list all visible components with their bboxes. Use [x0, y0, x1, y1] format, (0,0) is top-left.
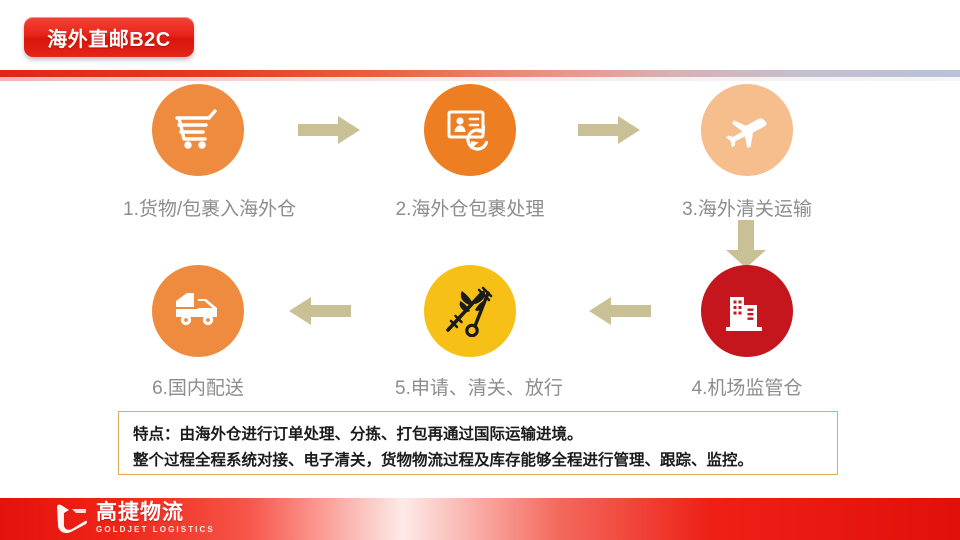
brand-name-en: GOLDJET LOGISTICS	[96, 526, 215, 534]
arrow-4-to-5	[589, 297, 651, 325]
customs-emblem-icon	[442, 285, 498, 337]
arrow-1-to-2	[298, 116, 360, 144]
header-divider-shadow	[0, 77, 960, 81]
arrow-2-to-3	[578, 116, 640, 144]
flow-stage-2[interactable]: 2.海外仓包裹处理	[395, 84, 545, 221]
header-divider	[0, 70, 960, 77]
brand-logo: 高捷物流 GOLDJET LOGISTICS	[55, 502, 215, 534]
flow-stage-6[interactable]: 6.国内配送	[123, 265, 273, 400]
brand-logo-text: 高捷物流 GOLDJET LOGISTICS	[96, 502, 215, 534]
stage-6-label: 6.国内配送	[123, 373, 273, 400]
stage-6-circle	[152, 265, 244, 357]
delivery-truck-icon	[173, 291, 223, 331]
stage-3-circle	[701, 84, 793, 176]
page-title: 海外直邮B2C	[47, 23, 171, 52]
airplane-icon	[723, 108, 771, 152]
arrow-3-to-4	[726, 220, 766, 268]
stage-4-label: 4.机场监管仓	[672, 373, 822, 400]
flow-stage-1[interactable]: 1.货物/包裹入海外仓	[123, 84, 273, 221]
arrow-5-to-6	[289, 297, 351, 325]
flow-stage-3[interactable]: 3.海外清关运输	[672, 84, 822, 221]
goldjet-swoosh-icon	[55, 503, 89, 533]
stage-5-circle	[424, 265, 516, 357]
stage-2-circle	[424, 84, 516, 176]
warehouse-building-icon	[724, 289, 770, 333]
stage-3-label: 3.海外清关运输	[672, 194, 822, 221]
shopping-cart-icon	[173, 108, 223, 152]
page-title-badge: 海外直邮B2C	[24, 17, 194, 57]
stage-5-label: 5.申请、清关、放行	[395, 373, 545, 400]
stage-2-label: 2.海外仓包裹处理	[395, 194, 545, 221]
brand-name-cn: 高捷物流	[96, 502, 215, 523]
stage-1-circle	[152, 84, 244, 176]
flow-stage-4[interactable]: 4.机场监管仓	[672, 265, 822, 400]
note-line-1: 特点：由海外仓进行订单处理、分拣、打包再通过国际运输进境。	[133, 421, 823, 447]
footer-bar: 高捷物流 GOLDJET LOGISTICS	[0, 498, 960, 540]
order-processing-monitor-icon	[446, 108, 494, 152]
note-box: 特点：由海外仓进行订单处理、分拣、打包再通过国际运输进境。 整个过程全程系统对接…	[118, 411, 838, 475]
stage-1-label: 1.货物/包裹入海外仓	[123, 194, 273, 221]
note-line-2: 整个过程全程系统对接、电子清关，货物物流过程及库存能够全程进行管理、跟踪、监控。	[133, 447, 823, 473]
flow-stage-5[interactable]: 5.申请、清关、放行	[395, 265, 545, 400]
stage-4-circle	[701, 265, 793, 357]
